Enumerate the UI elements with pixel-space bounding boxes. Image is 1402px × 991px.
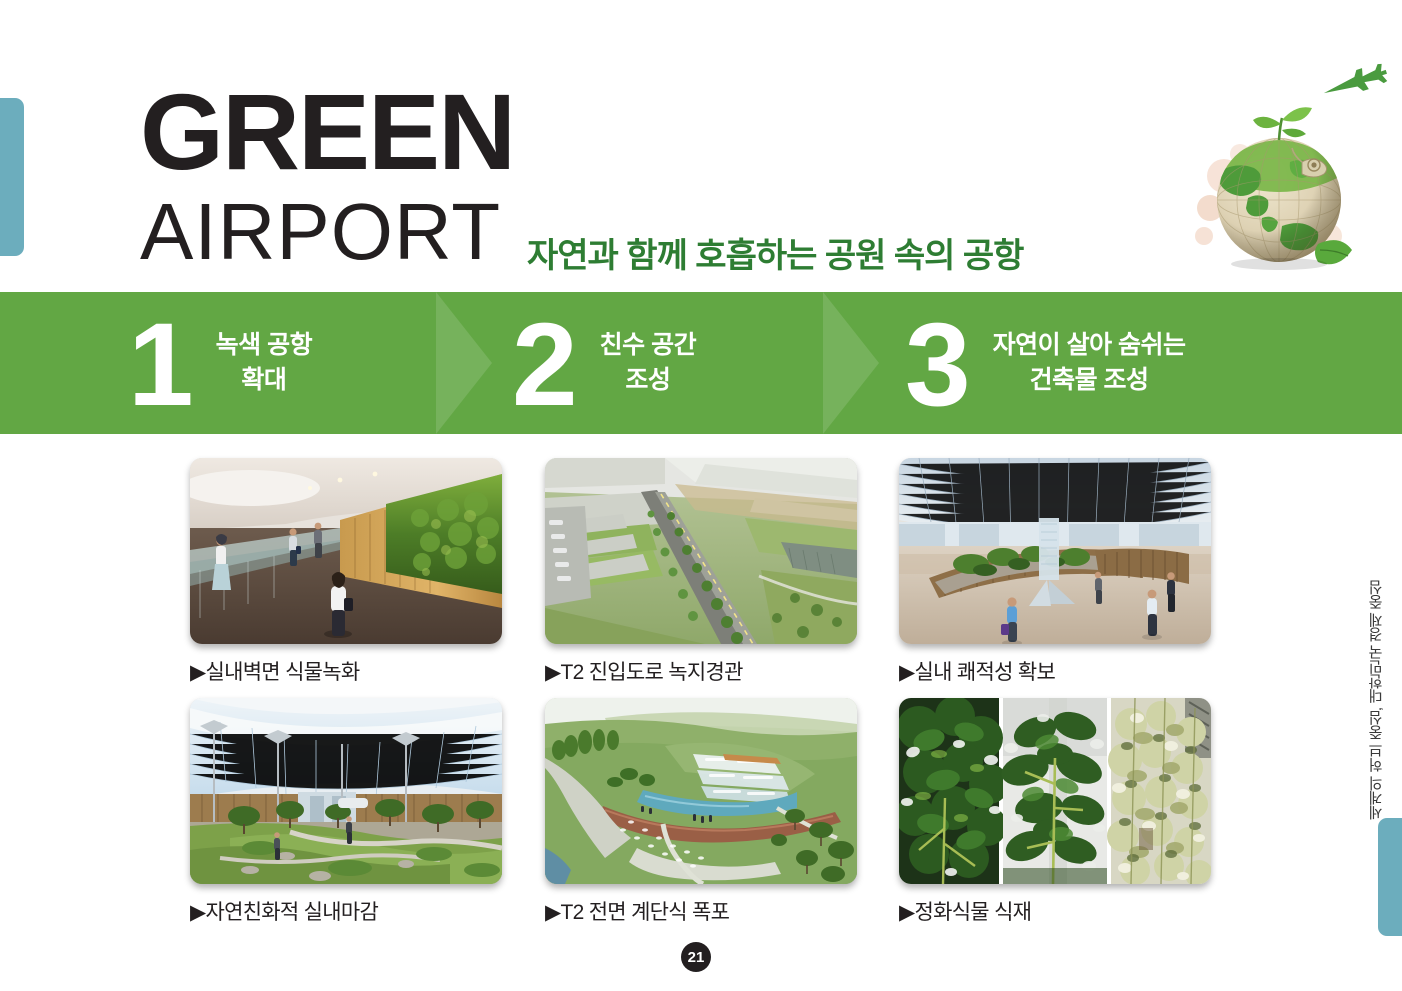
page-title-green: GREEN — [140, 78, 514, 186]
page-number-badge: 21 — [681, 942, 711, 972]
step-label-1-line2: 확대 — [216, 363, 312, 399]
chevron-right-icon — [823, 292, 879, 434]
photo-nature-friendly-interior — [190, 698, 502, 884]
step-number-2: 2 — [512, 306, 574, 424]
side-vertical-text: 세계의 허브 중심, 대한민국 경제 중심 — [1366, 560, 1396, 820]
step-label-1: 녹색 공항 확대 — [216, 328, 312, 399]
page-header: GREEN AIRPORT 자연과 함께 호흡하는 공원 속의 공항 — [0, 0, 1402, 292]
eco-globe-icon — [1162, 58, 1397, 293]
gallery-item-5: ▶T2 전면 계단식 폭포 — [545, 698, 857, 926]
step-label-3-line1: 자연이 살아 숨쉬는 — [993, 328, 1186, 364]
page-subtitle: 자연과 함께 호흡하는 공원 속의 공항 — [527, 228, 1023, 277]
photo-purifying-plants — [899, 698, 1211, 884]
gallery-caption-6: ▶정화식물 식재 — [899, 896, 1211, 926]
step-item-2: 2 친수 공간 조성 — [512, 292, 696, 434]
gallery-item-1: ▶실내벽면 식물녹화 — [190, 458, 502, 686]
gallery-item-3: ▶실내 쾌적성 확보 — [899, 458, 1211, 686]
right-side-tab — [1378, 818, 1402, 936]
step-number-1: 1 — [128, 306, 190, 424]
gallery-caption-3: ▶실내 쾌적성 확보 — [899, 656, 1211, 686]
step-item-3: 3 자연이 살아 숨쉬는 건축물 조성 — [905, 292, 1186, 434]
strategy-step-band: 1 녹색 공항 확대 2 친수 공간 조성 3 자연이 살아 숨쉬는 건축물 조… — [0, 292, 1402, 434]
gallery-caption-5: ▶T2 전면 계단식 폭포 — [545, 896, 857, 926]
step-number-3: 3 — [905, 306, 967, 424]
gallery-caption-2: ▶T2 진입도로 녹지경관 — [545, 656, 857, 686]
gallery-item-2: ▶T2 진입도로 녹지경관 — [545, 458, 857, 686]
gallery-caption-1: ▶실내벽면 식물녹화 — [190, 656, 502, 686]
step-label-3: 자연이 살아 숨쉬는 건축물 조성 — [993, 328, 1186, 399]
step-label-1-line1: 녹색 공항 — [216, 328, 312, 364]
step-item-1: 1 녹색 공항 확대 — [128, 292, 312, 434]
photo-indoor-green-wall — [190, 458, 502, 644]
photo-t2-stepped-waterfall — [545, 698, 857, 884]
gallery-item-4: ▶자연친화적 실내마감 — [190, 698, 502, 926]
page-title-airport: AIRPORT — [140, 192, 501, 272]
gallery-item-6: ▶정화식물 식재 — [899, 698, 1211, 926]
photo-gallery: ▶실내벽면 식물녹화 — [0, 434, 1402, 934]
gallery-caption-4: ▶자연친화적 실내마감 — [190, 896, 502, 926]
photo-indoor-comfort — [899, 458, 1211, 644]
step-label-3-line2: 건축물 조성 — [993, 363, 1186, 399]
step-label-2: 친수 공간 조성 — [600, 328, 696, 399]
step-label-2-line2: 조성 — [600, 363, 696, 399]
step-label-2-line1: 친수 공간 — [600, 328, 696, 364]
photo-t2-access-road — [545, 458, 857, 644]
chevron-right-icon — [436, 292, 492, 434]
